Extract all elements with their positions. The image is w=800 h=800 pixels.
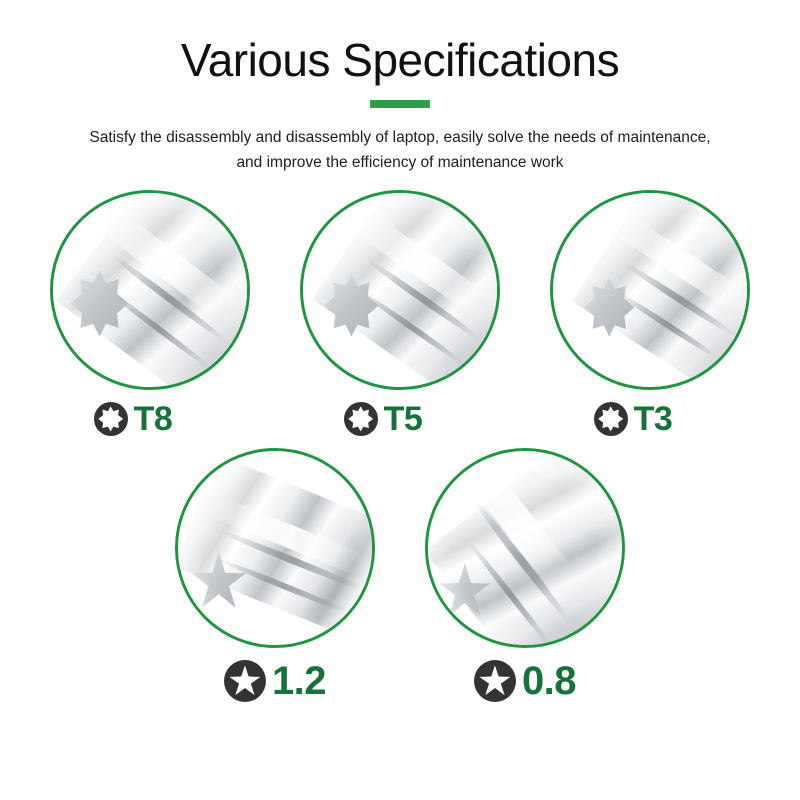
spec-label-t3: T3 xyxy=(594,402,673,436)
spec-item-t5[interactable]: T5 xyxy=(293,190,507,436)
spec-label-t5: T5 xyxy=(344,402,423,436)
page-header: Various Specifications Satisfy the disas… xyxy=(0,0,800,176)
spec-label-text: 0.8 xyxy=(522,661,576,701)
specification-grid: T8 T5 xyxy=(0,190,800,702)
title-divider xyxy=(370,100,430,108)
page-subtitle: Satisfy the disassembly and disassembly … xyxy=(70,126,730,176)
pentalobe-star-5-icon xyxy=(474,660,516,702)
torx-star-6-icon xyxy=(344,402,378,436)
bit-photo-t3 xyxy=(553,193,747,387)
spec-label-text: T5 xyxy=(384,402,423,436)
spec-label-1-2: 1.2 xyxy=(224,660,326,702)
spec-item-t3[interactable]: T3 xyxy=(543,190,757,436)
torx-star-6-icon xyxy=(594,402,628,436)
pentalobe-star-5-icon xyxy=(224,660,266,702)
spec-photo-frame xyxy=(300,190,500,390)
torx-star-6-icon xyxy=(94,402,128,436)
bit-photo-t5 xyxy=(303,193,497,387)
spec-photo-frame xyxy=(425,448,625,648)
spec-label-text: T3 xyxy=(634,402,673,436)
subtitle-line-2: and improve the efficiency of maintenanc… xyxy=(70,151,730,176)
subtitle-line-1: Satisfy the disassembly and disassembly … xyxy=(70,126,730,151)
bit-photo-1-2 xyxy=(178,451,372,645)
spec-row-bottom: 1.2 0.8 xyxy=(0,448,800,702)
spec-label-text: T8 xyxy=(134,402,173,436)
spec-photo-frame xyxy=(50,190,250,390)
spec-item-t8[interactable]: T8 xyxy=(43,190,257,436)
bit-photo-0-8 xyxy=(428,451,622,645)
spec-item-0-8[interactable]: 0.8 xyxy=(418,448,632,702)
spec-label-t8: T8 xyxy=(94,402,173,436)
spec-photo-frame xyxy=(550,190,750,390)
spec-item-1-2[interactable]: 1.2 xyxy=(168,448,382,702)
spec-row-top: T8 T5 xyxy=(0,190,800,436)
page-title: Various Specifications xyxy=(0,36,800,84)
spec-photo-frame xyxy=(175,448,375,648)
spec-label-0-8: 0.8 xyxy=(474,660,576,702)
bit-photo-t8 xyxy=(53,193,247,387)
spec-label-text: 1.2 xyxy=(272,661,326,701)
